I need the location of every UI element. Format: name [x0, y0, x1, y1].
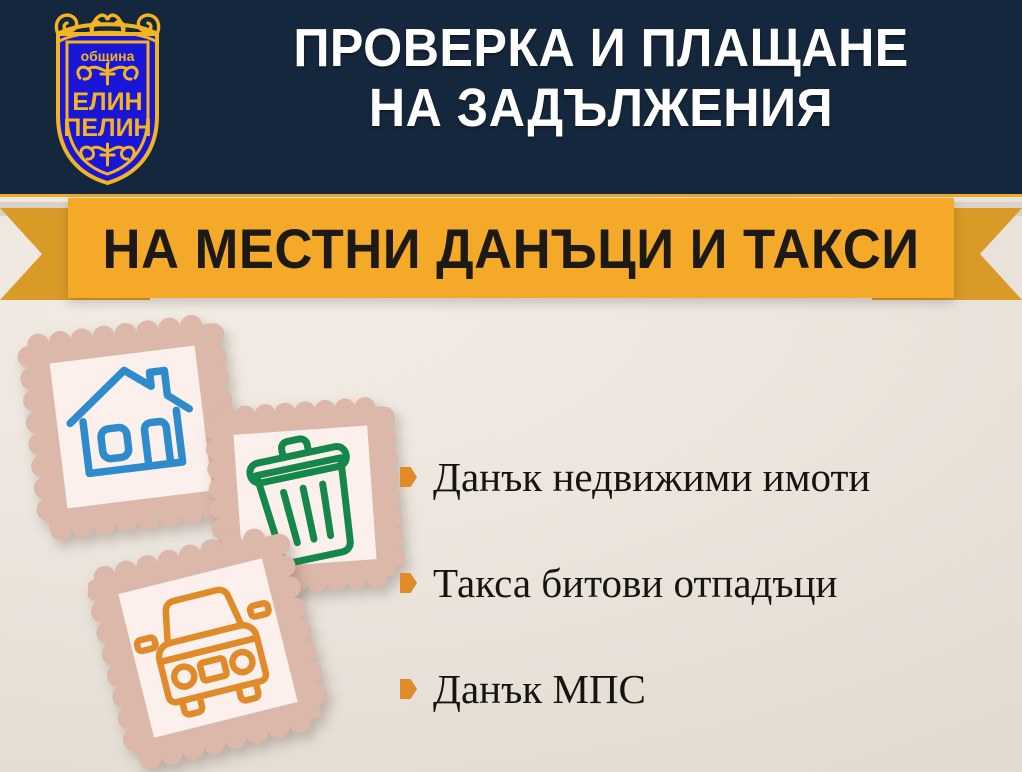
- arrow-bullet-icon: [400, 679, 417, 699]
- header-banner: община ЕЛИН ПЕЛИН: [0, 0, 1022, 197]
- list-item-label: Данък МПС: [433, 669, 646, 710]
- list-item[interactable]: Данък недвижими имоти: [400, 424, 1012, 530]
- list-item-label: Данък недвижими имоти: [433, 457, 870, 498]
- poster-root: община ЕЛИН ПЕЛИН: [0, 0, 1022, 772]
- page-title: ПРОВЕРКА И ПЛАЩАНЕ НА ЗАДЪЛЖЕНИЯ: [223, 18, 978, 139]
- tax-types-list: Данък недвижими имоти Такса битови отпад…: [400, 424, 1012, 742]
- page-title-line-2: НА ЗАДЪЛЖЕНИЯ: [223, 78, 978, 138]
- svg-text:ЕЛИН: ЕЛИН: [72, 88, 142, 116]
- page-title-line-1: ПРОВЕРКА И ПЛАЩАНЕ: [223, 18, 978, 78]
- list-item[interactable]: Данък МПС: [400, 636, 1012, 742]
- list-item[interactable]: Такса битови отпадъци: [400, 530, 1012, 636]
- ribbon-banner: НА МЕСТНИ ДАНЪЦИ И ТАКСИ: [0, 196, 1022, 308]
- arrow-bullet-icon: [400, 467, 417, 487]
- svg-text:община: община: [81, 48, 135, 64]
- list-item-label: Такса битови отпадъци: [433, 563, 837, 604]
- stamp-car: [88, 528, 328, 768]
- arrow-bullet-icon: [400, 573, 417, 593]
- svg-text:ПЕЛИН: ПЕЛИН: [63, 114, 151, 142]
- ribbon-label: НА МЕСТНИ ДАНЪЦИ И ТАКСИ: [95, 198, 928, 298]
- coat-of-arms-icon: община ЕЛИН ПЕЛИН: [30, 8, 185, 188]
